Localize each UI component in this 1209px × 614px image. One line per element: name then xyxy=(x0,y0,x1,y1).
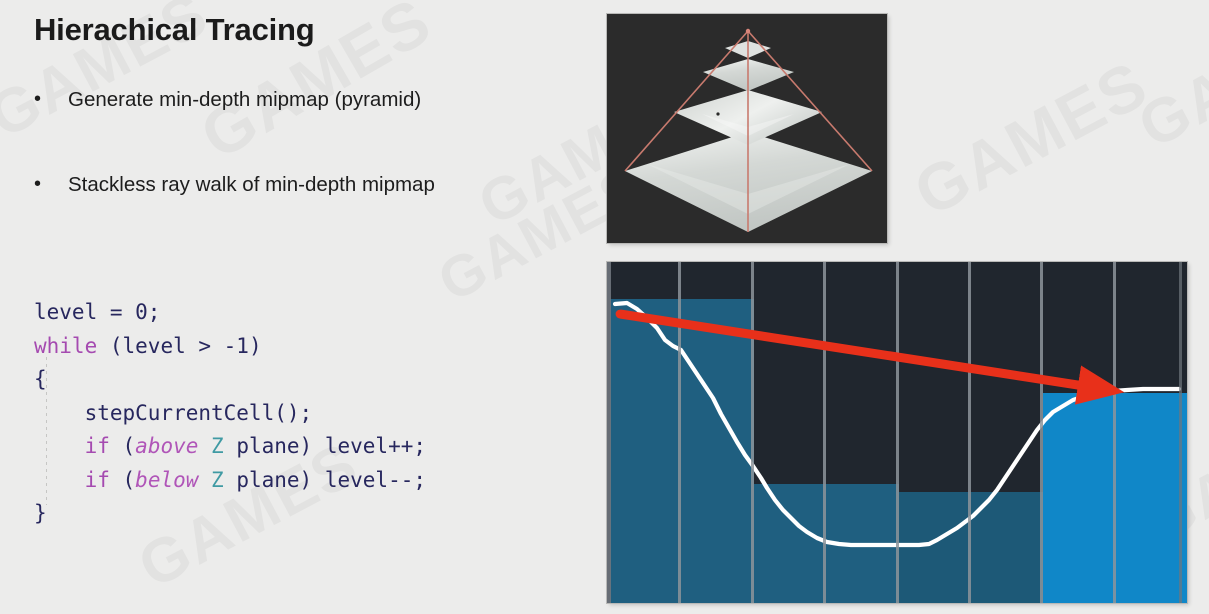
code-token: above xyxy=(135,434,198,458)
code-token: level xyxy=(123,334,186,358)
code-token: if xyxy=(85,468,110,492)
code-line: level = 0; xyxy=(34,296,426,330)
code-line: if (below Z plane) level--; xyxy=(34,464,426,498)
list-item-label: Generate min-depth mipmap (pyramid) xyxy=(68,88,421,113)
code-token: stepCurrentCell(); xyxy=(34,401,312,425)
ray-line xyxy=(620,314,1110,390)
code-token: plane) level--; xyxy=(224,468,426,492)
code-token: > -1) xyxy=(186,334,262,358)
code-token: below xyxy=(135,468,198,492)
code-token: level xyxy=(34,300,97,324)
code-token xyxy=(34,468,85,492)
code-token: plane) level++; xyxy=(224,434,426,458)
code-token: ( xyxy=(97,334,122,358)
page-title: Hierachical Tracing xyxy=(34,12,315,48)
ray-arrow xyxy=(607,262,1187,603)
slide-left-column: Hierachical Tracing • Generate min-depth… xyxy=(0,0,600,614)
bullet-marker-icon: • xyxy=(34,173,68,196)
ray-origin-dot xyxy=(616,310,625,319)
code-token: { xyxy=(34,367,47,391)
watermark-text: GAMES xyxy=(1127,0,1209,163)
code-block: level = 0;while (level > -1){ stepCurren… xyxy=(34,296,426,531)
code-token: ( xyxy=(110,468,135,492)
bullet-marker-icon: • xyxy=(34,88,68,111)
code-token xyxy=(198,434,211,458)
code-line: if (above Z plane) level++; xyxy=(34,430,426,464)
code-line: } xyxy=(34,497,426,531)
code-line: { xyxy=(34,363,426,397)
watermark-text: GAMES xyxy=(902,45,1160,230)
list-item: • Stackless ray walk of min-depth mipmap xyxy=(34,173,564,198)
code-token xyxy=(34,434,85,458)
code-line: stepCurrentCell(); xyxy=(34,397,426,431)
code-token: if xyxy=(85,434,110,458)
pyramid-diagram xyxy=(607,14,887,243)
pyramid-apex-point xyxy=(746,29,750,33)
figure-depth-cells xyxy=(607,262,1187,603)
code-line: while (level > -1) xyxy=(34,330,426,364)
code-indent-guide xyxy=(46,357,47,505)
code-token: while xyxy=(34,334,97,358)
code-token: Z xyxy=(211,468,224,492)
pyramid-edge-lines xyxy=(625,31,872,232)
pyramid-marker-dot xyxy=(716,112,719,115)
code-token: = xyxy=(97,300,135,324)
depth-canvas xyxy=(607,262,1187,603)
code-token: 0; xyxy=(135,300,160,324)
code-token: } xyxy=(34,501,47,525)
bullet-list: • Generate min-depth mipmap (pyramid) • … xyxy=(34,88,564,257)
code-token: Z xyxy=(211,434,224,458)
code-token xyxy=(198,468,211,492)
figure-mipmap-pyramid xyxy=(607,14,887,243)
list-item-label: Stackless ray walk of min-depth mipmap xyxy=(68,173,435,198)
code-token: ( xyxy=(110,434,135,458)
list-item: • Generate min-depth mipmap (pyramid) xyxy=(34,88,564,113)
